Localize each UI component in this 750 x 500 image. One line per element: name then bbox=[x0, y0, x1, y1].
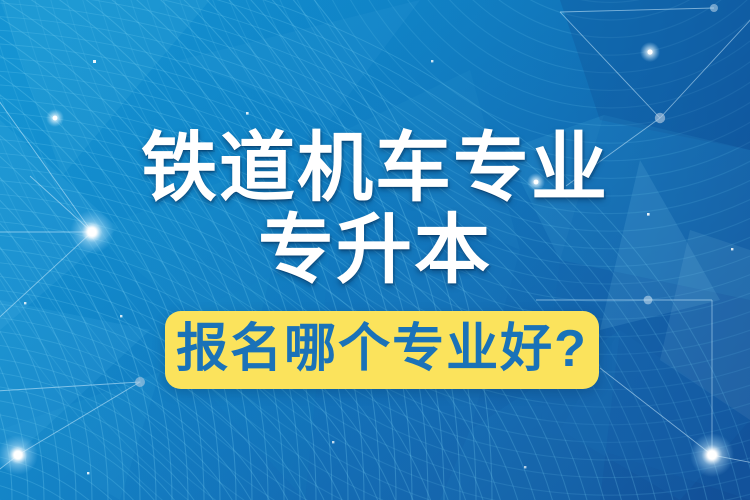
promo-banner-graphic: 铁道机车专业 专升本 报名哪个专业好? bbox=[0, 0, 750, 500]
background-artwork bbox=[0, 0, 750, 500]
callout-banner: 报名哪个专业好? bbox=[165, 311, 599, 389]
callout-banner-text: 报名哪个专业好? bbox=[176, 321, 588, 377]
